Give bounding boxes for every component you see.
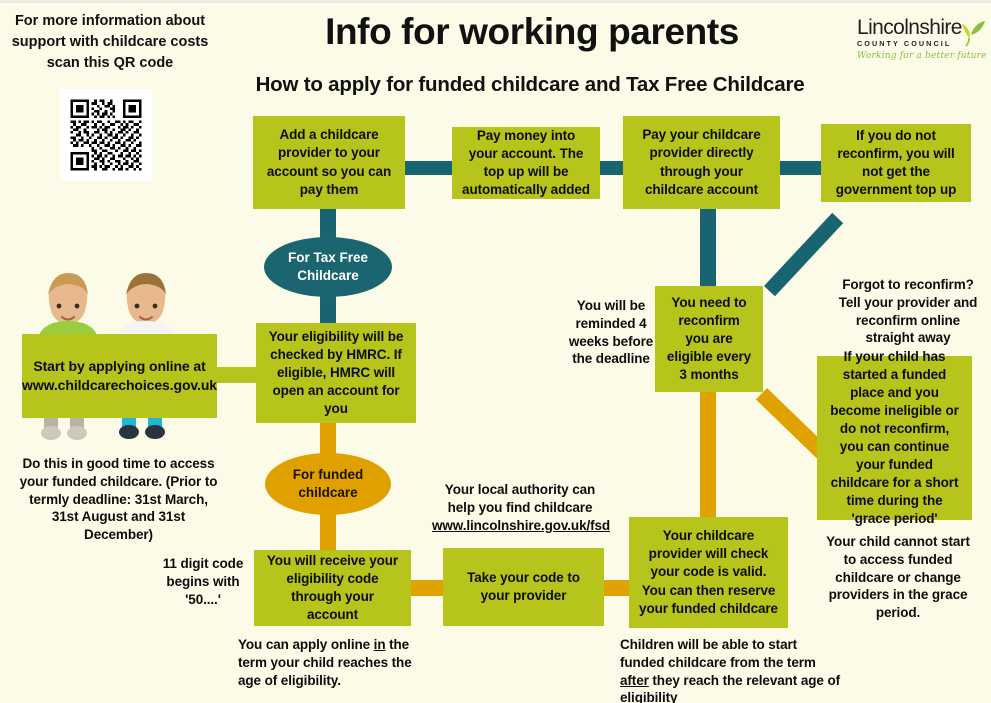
- note-children-start-emphasis: after: [620, 673, 649, 688]
- box-reconfirm-every-3-months[interactable]: You need to reconfirm you are eligible e…: [655, 286, 763, 392]
- note-children-start-funded: Children will be able to start funded ch…: [620, 636, 842, 703]
- note-forgot-to-reconfirm: Forgot to reconfirm? Tell your provider …: [835, 276, 981, 347]
- logo-strapline: Working for a better future: [857, 51, 987, 61]
- ellipse-tax-free-text: For Tax Free Childcare: [264, 249, 392, 284]
- box-pay-provider[interactable]: Pay your childcare provider directly thr…: [623, 116, 780, 209]
- page-subtitle: How to apply for funded childcare and Ta…: [170, 73, 890, 97]
- note-eleven-digit-code: 11 digit code begins with '50....': [155, 555, 251, 608]
- ellipse-funded-text: For funded childcare: [265, 466, 391, 501]
- infographic-poster: For more information about support with …: [0, 0, 991, 703]
- leaf-icon: [957, 17, 987, 47]
- note-apply-online-term-emphasis: in: [374, 637, 386, 652]
- box-reconfirm-text: You need to reconfirm you are eligible e…: [665, 294, 753, 384]
- note-local-authority-text: Your local authority can help you find c…: [445, 482, 595, 515]
- connector-pay-provider-to-reconfirm: [700, 208, 716, 290]
- box-hmrc-check-text: Your eligibility will be checked by HMRC…: [266, 328, 406, 418]
- page-title: Info for working parents: [222, 11, 842, 53]
- box-no-reconfirm[interactable]: If you do not reconfirm, you will not ge…: [821, 124, 971, 202]
- box-provider-checks-code[interactable]: Your childcare provider will check your …: [629, 517, 788, 628]
- lincolnshire-county-council-logo: Lincolnshire COUNTY COUNCIL Working for …: [857, 17, 987, 69]
- box-start-applying-online[interactable]: Start by applying online at www.childcar…: [22, 334, 217, 418]
- box-take-code-text: Take your code to your provider: [453, 569, 594, 605]
- box-hmrc-check[interactable]: Your eligibility will be checked by HMRC…: [256, 323, 416, 423]
- note-reminded-4-weeks: You will be reminded 4 weeks before the …: [565, 297, 657, 368]
- box-no-reconfirm-text: If you do not reconfirm, you will not ge…: [831, 127, 961, 199]
- qr-code: [60, 89, 152, 181]
- note-apply-online-term-part1: You can apply online: [238, 637, 374, 652]
- box-pay-money-in-text: Pay money into your account. The top up …: [462, 127, 590, 199]
- note-apply-online-term: You can apply online in the term your ch…: [238, 636, 430, 689]
- qr-caption: For more information about support with …: [4, 11, 216, 74]
- box-receive-code-text: You will receive your eligibility code t…: [264, 552, 401, 624]
- note-cannot-start-grace-period: Your child cannot start to access funded…: [822, 533, 974, 622]
- connector-pay-provider-to-no-reconfirm: [778, 161, 822, 175]
- box-grace-period-text: If your child has started a funded place…: [827, 348, 962, 529]
- note-local-authority-link[interactable]: www.lincolnshire.gov.uk/fsd: [432, 518, 610, 533]
- box-grace-period[interactable]: If your child has started a funded place…: [817, 356, 972, 520]
- note-children-start-part2: they reach the relevant age of eligibili…: [620, 673, 840, 703]
- connector-pay-money-to-pay-provider: [598, 161, 624, 175]
- qr-code-svg: [68, 97, 144, 173]
- connector-add-provider-to-pay-money: [403, 161, 453, 175]
- note-local-authority: Your local authority can help you find c…: [432, 481, 608, 534]
- box-receive-eligibility-code[interactable]: You will receive your eligibility code t…: [254, 550, 411, 626]
- box-pay-provider-text: Pay your childcare provider directly thr…: [633, 126, 770, 198]
- box-start-applying-text: Start by applying online at www.childcar…: [22, 357, 217, 395]
- connector-no-reconfirm-diagonal: [764, 213, 843, 296]
- note-children-start-part1: Children will be able to start funded ch…: [620, 637, 816, 670]
- box-add-provider-text: Add a childcare provider to your account…: [263, 126, 395, 198]
- box-provider-checks-text: Your childcare provider will check your …: [639, 527, 778, 617]
- box-take-code-to-provider[interactable]: Take your code to your provider: [443, 548, 604, 626]
- connector-reconfirm-to-provider-checks: [700, 391, 716, 518]
- note-good-time: Do this in good time to access your fund…: [16, 455, 221, 544]
- ellipse-for-funded-childcare[interactable]: For funded childcare: [265, 453, 391, 515]
- box-add-provider[interactable]: Add a childcare provider to your account…: [253, 116, 405, 209]
- ellipse-for-tax-free-childcare[interactable]: For Tax Free Childcare: [264, 237, 392, 297]
- box-pay-money-in[interactable]: Pay money into your account. The top up …: [452, 127, 600, 199]
